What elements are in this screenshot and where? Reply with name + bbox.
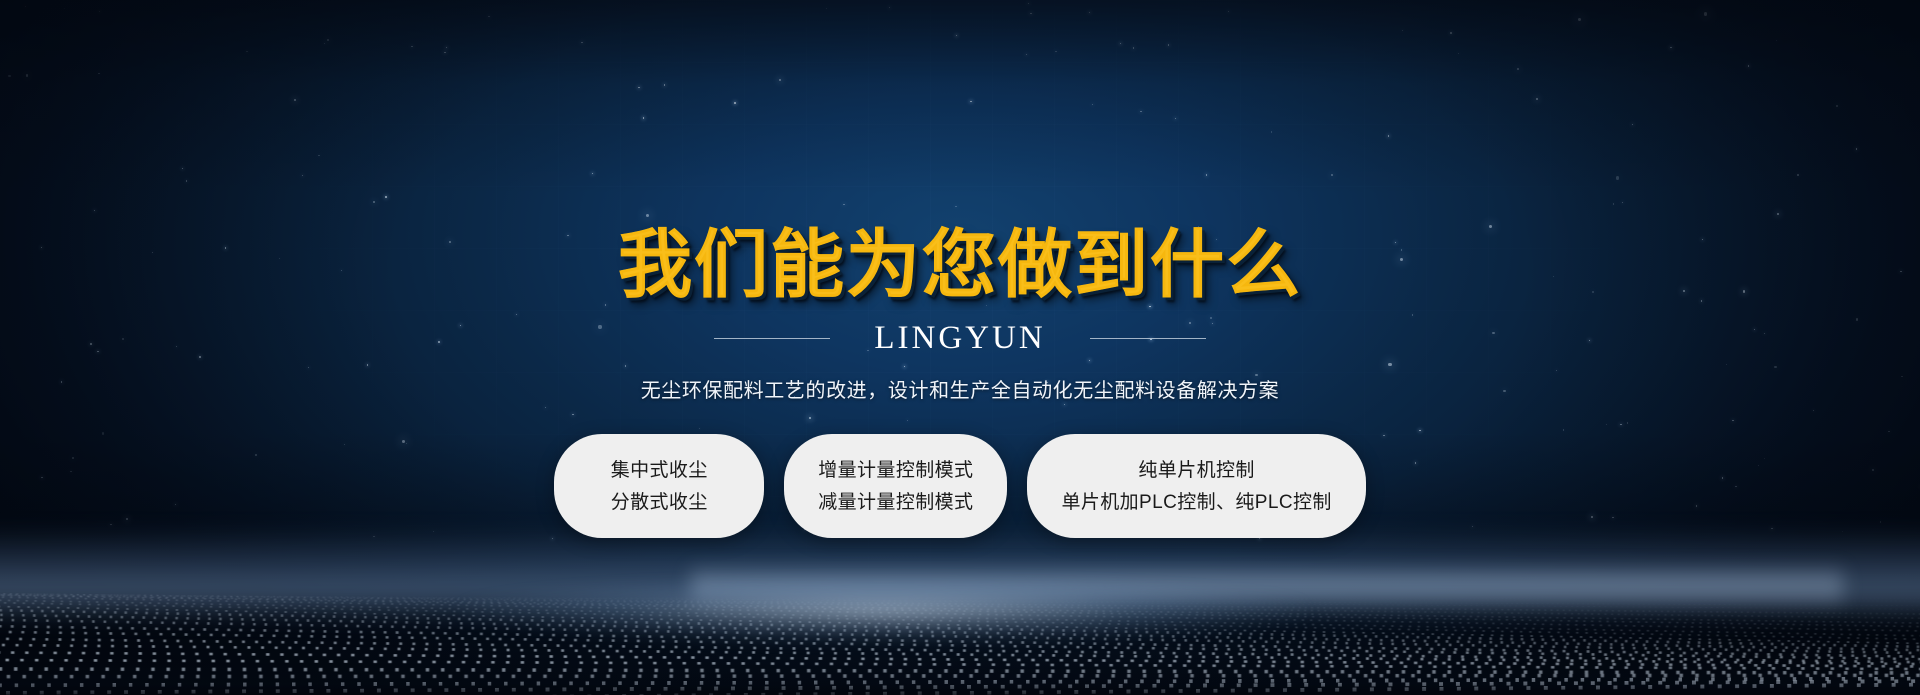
divider-right: [1090, 338, 1206, 339]
divider-left: [714, 338, 830, 339]
page-title: 我们能为您做到什么: [618, 228, 1302, 302]
feature-card-control-system[interactable]: 纯单片机控制单片机加PLC控制、纯PLC控制: [1027, 434, 1365, 538]
feature-card-dust-collection[interactable]: 集中式收尘分散式收尘: [554, 434, 764, 538]
feature-card-line: 单片机加PLC控制、纯PLC控制: [1061, 493, 1331, 512]
feature-card-metering-mode[interactable]: 增量计量控制模式减量计量控制模式: [784, 434, 1007, 538]
hero-banner: 我们能为您做到什么 LINGYUN 无尘环保配料工艺的改进，设计和生产全自动化无…: [0, 0, 1920, 695]
feature-card-line: 集中式收尘: [611, 461, 708, 480]
brand-row: LINGYUN: [714, 322, 1205, 355]
feature-card-line: 减量计量控制模式: [818, 493, 973, 512]
feature-card-line: 纯单片机控制: [1138, 461, 1254, 480]
brand-name: LINGYUN: [874, 322, 1045, 355]
page-subtitle: 无尘环保配料工艺的改进，设计和生产全自动化无尘配料设备解决方案: [641, 381, 1280, 401]
feature-card-list: 集中式收尘分散式收尘增量计量控制模式减量计量控制模式纯单片机控制单片机加PLC控…: [554, 434, 1366, 538]
banner-content: 我们能为您做到什么 LINGYUN 无尘环保配料工艺的改进，设计和生产全自动化无…: [0, 0, 1920, 695]
feature-card-line: 增量计量控制模式: [818, 461, 973, 480]
feature-card-line: 分散式收尘: [611, 493, 708, 512]
